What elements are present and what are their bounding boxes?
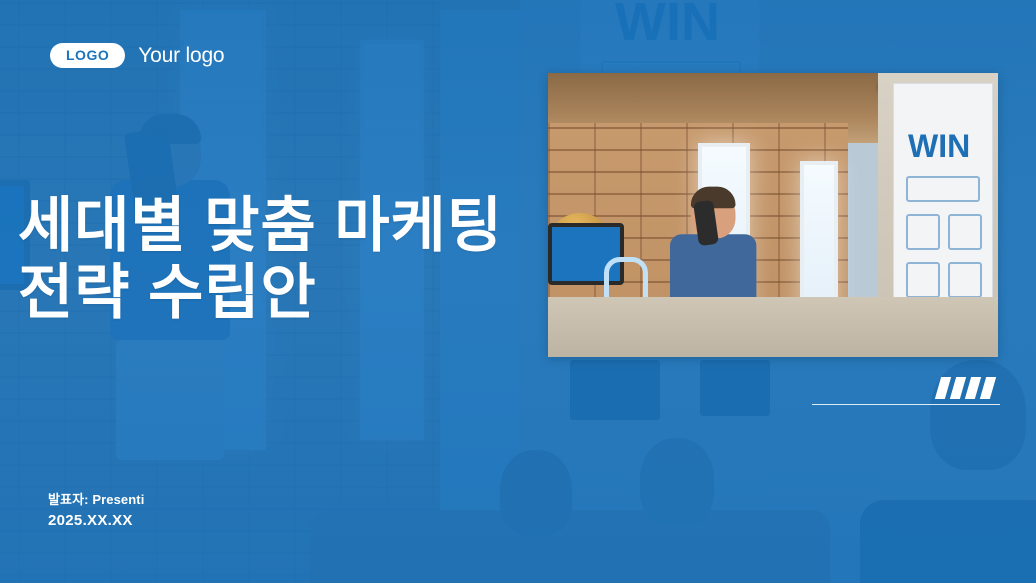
page-title: 세대별 맞춤 마케팅 전략 수립안 [18, 192, 503, 326]
logo-badge: LOGO [50, 43, 125, 68]
hero-photo: WIN [548, 73, 998, 357]
logo[interactable]: LOGO Your logo [50, 43, 224, 68]
title-slide: WIN [0, 0, 1036, 583]
hero-photo-scene-illustration: WIN [548, 73, 998, 357]
footer: 발표자: Presenti 2025.XX.XX [48, 492, 144, 532]
accent-rule [812, 404, 1000, 405]
logo-label: Your logo [138, 44, 224, 68]
quote-mark-icon [938, 377, 1000, 399]
date-label: 2025.XX.XX [48, 511, 144, 531]
presenter-label: 발표자: Presenti [48, 492, 144, 508]
